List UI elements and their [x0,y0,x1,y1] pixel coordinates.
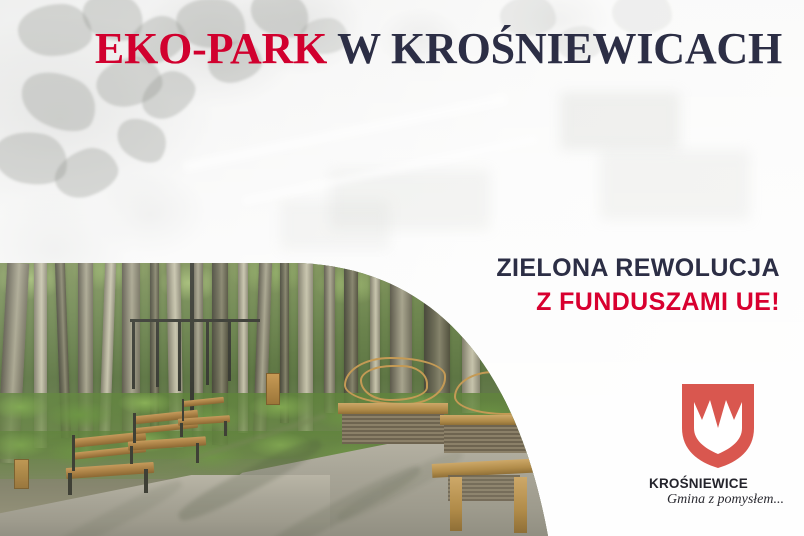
waste-bin [266,373,280,405]
pergola-beam [130,319,260,322]
rustic-bench [440,371,544,457]
rustic-bench [338,357,448,449]
headline-eko-park: EKO-PARK [95,24,327,73]
eko-park-forest-path-photo [0,263,556,536]
park-bench [178,399,234,441]
rustic-bench-foreground [432,461,544,533]
krosniewice-shield-icon [680,382,756,470]
pergola-upright [132,319,135,389]
pergola-upright [228,319,231,381]
krosniewice-logo: KROŚNIEWICE Gmina z pomysłem... [645,382,790,508]
pergola-upright [206,321,209,385]
backdrop-structure-blur [600,150,750,220]
lamp-post [190,263,194,421]
subtitle-line-2: Z FUNDUSZAMI UE! [496,288,780,318]
waste-bin [14,459,29,489]
subtitle-line-1: ZIELONA REWOLUCJA [496,254,780,284]
pergola-upright [178,319,181,391]
poster-canvas: EKO-PARK W KROŚNIEWICACH ZIELONA REWOLUC… [0,0,804,536]
poster-headline: EKO-PARK W KROŚNIEWICACH [0,27,782,71]
headline-location: W KROŚNIEWICACH [327,24,782,73]
backdrop-structure-blur [280,200,390,250]
logo-municipality-name: KROŚNIEWICE [645,476,790,491]
logo-tagline: Gmina z pomysłem... [645,492,790,508]
backdrop-structure-blur [560,92,680,150]
pergola-upright [156,321,159,387]
poster-subtitle: ZIELONA REWOLUCJA Z FUNDUSZAMI UE! [496,254,780,317]
